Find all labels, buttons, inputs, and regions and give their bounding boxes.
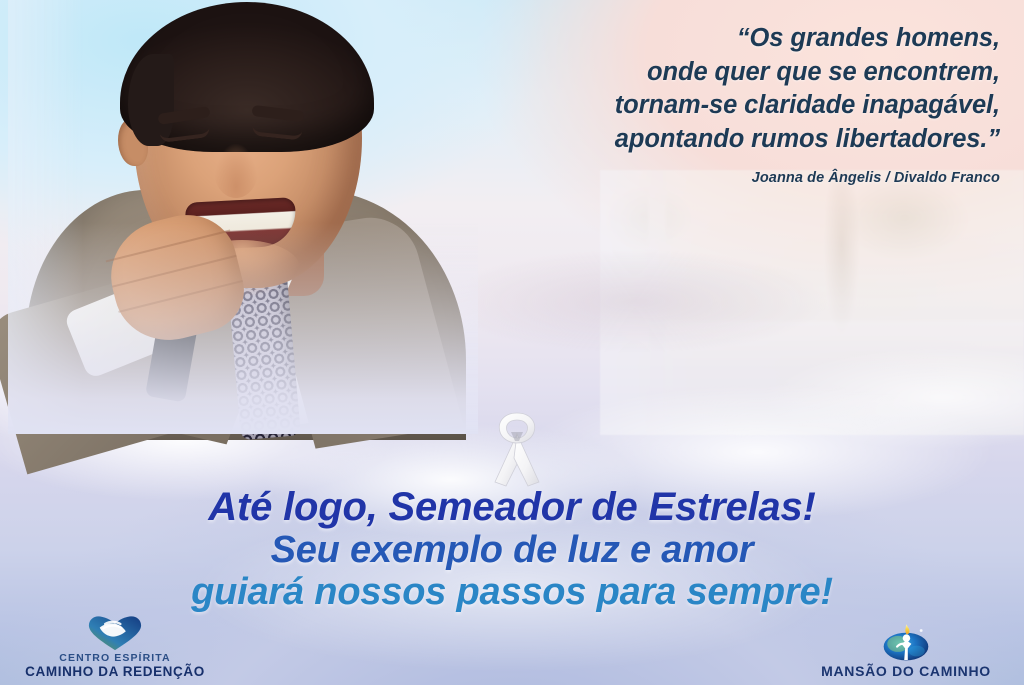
quote-text: “Os grandes homens, onde quer que se enc… <box>430 22 1000 157</box>
globe-figure-flame-icon <box>796 626 1016 662</box>
white-ribbon-icon <box>484 410 550 488</box>
quote-line-3: tornam-se claridade inapagável, <box>430 89 1000 123</box>
logo-right-line-2: MANSÃO DO CAMINHO <box>796 663 1016 679</box>
quote-line-4: apontando rumos libertadores.” <box>430 123 1000 157</box>
quote-line-2: onde quer que se encontrem, <box>430 56 1000 90</box>
headline-line-1: Até logo, Semeador de Estrelas! <box>0 487 1024 528</box>
headline-line-3: guiará nossos passos para sempre! <box>0 573 1024 612</box>
logo-centro-espirita[interactable]: CENTRO ESPÍRITA CAMINHO DA REDENÇÃO <box>10 615 220 679</box>
logo-left-line-2: CAMINHO DA REDENÇÃO <box>10 664 220 679</box>
quote-attribution: Joanna de Ângelis / Divaldo Franco <box>430 170 1000 186</box>
headline-block: Até logo, Semeador de Estrelas! Seu exem… <box>0 487 1024 611</box>
logo-right-text: MANSÃO DO CAMINHO <box>796 663 1016 679</box>
portrait-fade-overlay <box>8 0 478 434</box>
logo-mansao-do-caminho[interactable]: MANSÃO DO CAMINHO <box>796 626 1016 679</box>
logo-left-line-1: CENTRO ESPÍRITA <box>10 652 220 664</box>
poster-canvas: “Os grandes homens, onde quer que se enc… <box>0 0 1024 685</box>
heart-hands-icon <box>10 615 220 651</box>
headline-line-2: Seu exemplo de luz e amor <box>0 531 1024 570</box>
logo-left-text: CENTRO ESPÍRITA CAMINHO DA REDENÇÃO <box>10 652 220 679</box>
portrait-divaldo-franco <box>8 0 478 434</box>
quote-line-1: “Os grandes homens, <box>430 22 1000 56</box>
